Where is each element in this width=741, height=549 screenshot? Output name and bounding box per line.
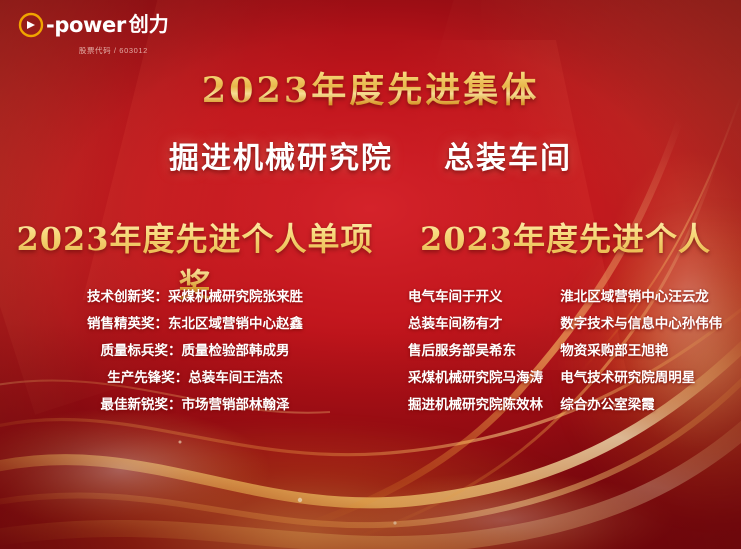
individual-name: 电气技术研究院周明星 [560, 365, 741, 392]
individual-name: 电气车间于开义 [390, 284, 560, 311]
individual-name: 掘进机械研究院陈效林 [390, 392, 560, 419]
logo-text-cn: 创力 [129, 15, 169, 35]
individual-name: 淮北区域营销中心汪云龙 [560, 284, 741, 311]
individual-award-list: 电气车间于开义 淮北区域营销中心汪云龙 总装车间杨有才 数字技术与信息中心孙伟伟… [390, 284, 741, 419]
brand-logo: -power 创力 股票代码 / 603012 [18, 12, 169, 56]
individual-name: 总装车间杨有才 [390, 311, 560, 338]
collective-winner-2: 总装车间 [444, 141, 572, 176]
stock-code-label: 股票代码 / 603012 [39, 45, 148, 56]
c-power-logo-icon [18, 12, 44, 38]
list-item: 最佳新锐奖：市场营销部林翰泽 [0, 392, 390, 419]
list-item: 生产先锋奖：总装车间王浩杰 [0, 365, 390, 392]
list-item: 采煤机械研究院马海涛 电气技术研究院周明星 [390, 365, 741, 392]
list-item: 售后服务部吴希东 物资采购部王旭艳 [390, 338, 741, 365]
list-item: 掘进机械研究院陈效林 综合办公室梁霞 [390, 392, 741, 419]
list-item: 销售精英奖：东北区域营销中心赵鑫 [0, 311, 390, 338]
individual-name: 数字技术与信息中心孙伟伟 [560, 311, 741, 338]
award-lists: 技术创新奖：采煤机械研究院张来胜 销售精英奖：东北区域营销中心赵鑫 质量标兵奖：… [0, 284, 741, 419]
collective-award-winners: 掘进机械研究院 总装车间 [0, 133, 741, 177]
list-item: 电气车间于开义 淮北区域营销中心汪云龙 [390, 284, 741, 311]
list-item: 总装车间杨有才 数字技术与信息中心孙伟伟 [390, 311, 741, 338]
collective-winner-1: 掘进机械研究院 [169, 141, 393, 176]
award-poster: -power 创力 股票代码 / 603012 2023年度先进集体 掘进机械研… [0, 0, 741, 549]
collective-award-title: 2023年度先进集体 [0, 62, 741, 113]
individual-name: 售后服务部吴希东 [390, 338, 560, 365]
individual-name: 综合办公室梁霞 [560, 392, 741, 419]
logo-text-en: -power [46, 15, 126, 36]
individual-name: 采煤机械研究院马海涛 [390, 365, 560, 392]
list-item: 技术创新奖：采煤机械研究院张来胜 [0, 284, 390, 311]
logo-row: -power 创力 [18, 12, 169, 38]
list-item: 质量标兵奖：质量检验部韩成男 [0, 338, 390, 365]
special-award-list: 技术创新奖：采煤机械研究院张来胜 销售精英奖：东北区域营销中心赵鑫 质量标兵奖：… [0, 284, 390, 419]
individual-name: 物资采购部王旭艳 [560, 338, 741, 365]
